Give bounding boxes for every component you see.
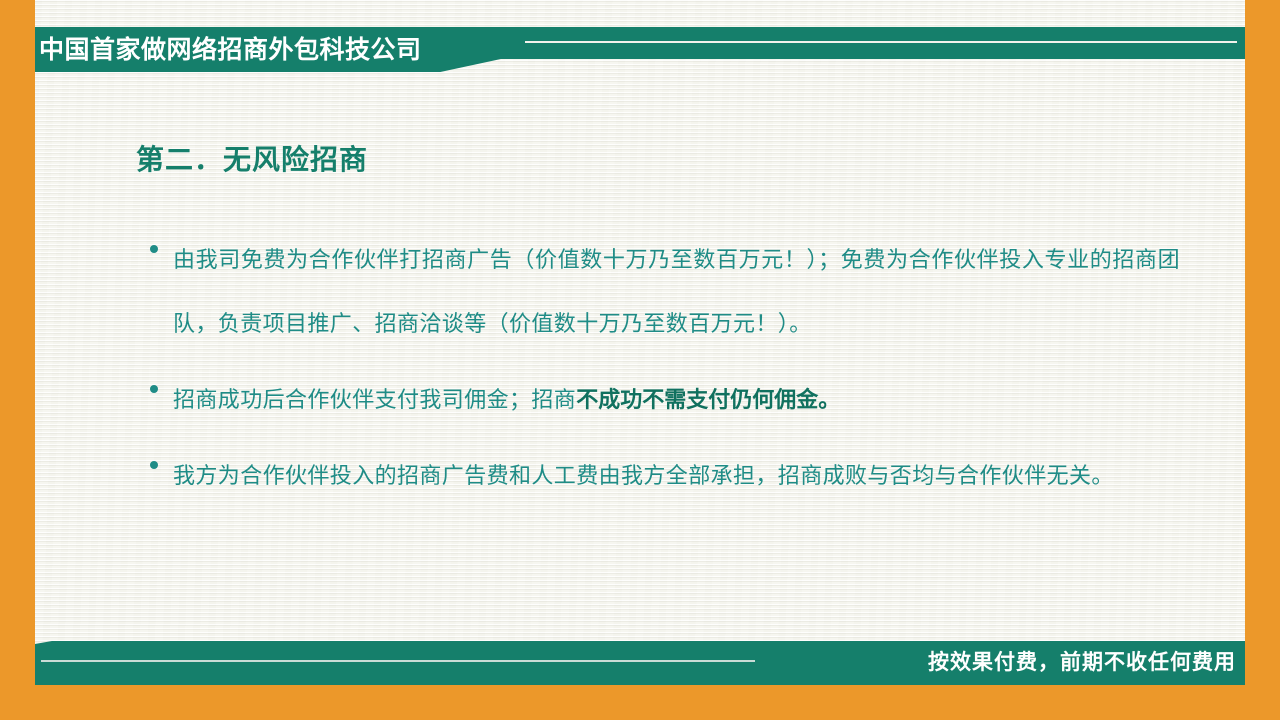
list-item: 我方为合作伙伴投入的招商广告费和人工费由我方全部承担，招商成败与否均与合作伙伴无… (145, 444, 1180, 508)
list-item-text: 招商成功后合作伙伴支付我司佣金；招商不成功不需支付仍何佣金。 (173, 368, 1180, 432)
presentation-slide: 中国首家做网络招商外包科技公司 第二．无风险招商 由我司免费为合作伙伴打招商广告… (0, 0, 1280, 720)
emphasis-text: 不成功不需支付仍何佣金。 (576, 387, 840, 412)
footer-tagline: 按效果付费，前期不收任何费用 (928, 648, 1236, 678)
list-item: 由我司免费为合作伙伴打招商广告（价值数十万乃至数百万元！）；免费为合作伙伴投入专… (145, 228, 1180, 356)
body-text: 招商成功后合作伙伴支付我司佣金；招商 (173, 387, 576, 412)
body-text: 由我司免费为合作伙伴打招商广告（价值数十万乃至数百万元！）；免费为合作伙伴投入专… (173, 247, 1180, 336)
bullet-dot-icon (150, 245, 158, 253)
list-item-text: 由我司免费为合作伙伴打招商广告（价值数十万乃至数百万元！）；免费为合作伙伴投入专… (173, 228, 1180, 356)
bullet-list: 由我司免费为合作伙伴打招商广告（价值数十万乃至数百万元！）；免费为合作伙伴投入专… (145, 228, 1180, 520)
page-title: 第二．无风险招商 (136, 138, 368, 178)
bullet-dot-icon (150, 461, 158, 469)
header-banner-text: 中国首家做网络招商外包科技公司 (39, 32, 422, 68)
list-item-text: 我方为合作伙伴投入的招商广告费和人工费由我方全部承担，招商成败与否均与合作伙伴无… (173, 444, 1180, 508)
body-text: 我方为合作伙伴投入的招商广告费和人工费由我方全部承担，招商成败与否均与合作伙伴无… (173, 463, 1114, 488)
list-item: 招商成功后合作伙伴支付我司佣金；招商不成功不需支付仍何佣金。 (145, 368, 1180, 432)
header-divider-line (525, 41, 1237, 43)
footer-divider-line (41, 660, 755, 662)
bullet-dot-icon (150, 385, 158, 393)
